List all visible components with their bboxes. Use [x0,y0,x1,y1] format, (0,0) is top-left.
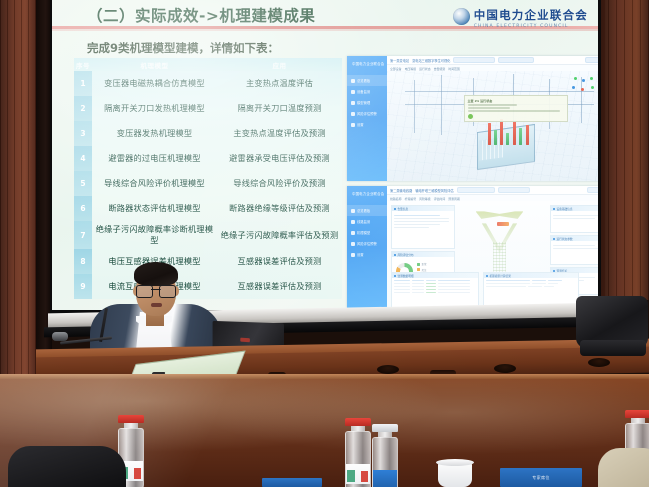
row-application: 互感器误差评估及预测 [217,253,342,270]
cable-grommet [377,365,399,374]
filter-status[interactable]: 运行状态 [419,67,431,71]
alert-icon [351,112,355,116]
water-bottle[interactable] [345,418,371,487]
dashboard-substation-digital-twin: 中国电力企业联合会 总览看板 设备监测 模型管理 [347,56,598,181]
filter-line-name[interactable]: 线路名称 [390,197,402,201]
tab-twin-view[interactable]: 变电站三维数字孪生可视化 [412,58,450,63]
eyeglasses-icon [136,285,176,296]
table-row: 6 断路器状态评估机理模型 断路器绝缘等级评估及预测 [74,196,342,221]
table-header-row: 序号 机理模型 应用 [74,58,342,71]
tooltip-title: 主变 #1 运行状态 [468,99,564,103]
sidebar-item-models[interactable]: 模型管理 [347,97,387,108]
dashboard-icon [351,209,355,213]
name-placard: 专家席位 [500,468,582,487]
bottle-label-mark [361,471,368,482]
bottle-label-mark [134,468,141,479]
row-application: 断路器绝缘等级评估及预测 [217,200,342,217]
filter-select[interactable] [498,187,530,194]
table-row [394,289,476,290]
dashboard-sidebar: 中国电力企业联合会 总览看板 线路监测 机理模型 [347,186,387,310]
hotspot-highlight [497,222,508,226]
lens-left [136,285,153,298]
monitor-icon [351,220,355,224]
name-placard-label: 专家席位 [532,475,550,481]
row-model: 导线综合风险评价机理模型 [92,175,217,192]
row-application: 主变热点温度评估及预测 [217,125,342,142]
row-model: 绝缘子污闪故障概率诊断机理模型 [92,221,217,249]
table-row [394,280,476,281]
bottle-body [345,431,371,487]
presenter-hair [134,262,178,286]
table-row: 7 绝缘子污闪故障概率诊断机理模型 绝缘子污闪故障概率评估及预测 [74,221,342,249]
sidebar-item-risk-alert[interactable]: 风险评估预警 [347,108,387,119]
panel-dot-icon [394,275,396,277]
dashboard-topbar: 第一类变电站 变电站三维数字孪生可视化 [387,56,598,65]
data-table [394,280,476,293]
row-number: 6 [74,196,92,221]
status-indicator-cluster [572,77,598,93]
panel-device-info: 设备基础信息 [550,205,598,233]
sidebar-item-line-monitoring[interactable]: 线路监测 [347,216,387,227]
bottle-label-mark [347,470,355,482]
dashboard-transmission-tower-risk: 中国电力企业联合会 总览看板 线路监测 机理模型 [347,186,598,310]
table-row: 5 导线综合风险评价机理模型 导线综合风险评价及预测 [74,171,342,196]
row-model: 变压器发热机理模型 [92,125,217,142]
dashboard-icon [351,79,355,83]
water-bottle[interactable] [372,424,398,487]
filter-predict-period[interactable]: 预测周期 [448,197,460,201]
panel-dot-icon [394,208,396,210]
chair-seat [580,340,646,356]
table-row [486,283,576,284]
lens-right [159,285,176,298]
presenter-mouth [151,303,162,307]
paper-cup[interactable] [438,462,472,487]
row-model: 隔离开关刀口发热机理模型 [92,100,217,117]
panel-body [484,278,578,291]
table-row [394,292,476,293]
sidebar-item-risk-alert[interactable]: 风险评估预警 [347,238,387,249]
user-avatar[interactable] [587,187,598,194]
sidebar-item-settings[interactable]: 设置 [347,249,387,260]
row-model: 断路器状态评估机理模型 [92,200,217,217]
dashboard-sidebar: 中国电力企业联合会 总览看板 设备监测 模型管理 [347,56,387,181]
bottle-cap [625,410,649,418]
row-model: 避雷器的过电压机理模型 [92,150,217,167]
wood-wall-left [0,0,36,420]
table-header-no: 序号 [74,60,92,70]
dashboard-main: 第一类变电站 变电站三维数字孪生可视化 全部设备 电压等级 运行状态 告警级别 … [387,56,598,181]
table-row [394,286,476,287]
filter-device[interactable]: 全部设备 [390,67,402,71]
wood-wall-right [600,0,649,300]
laptop-logo [240,338,250,343]
conference-room-photo: （二）实际成效->机理建模成果 中国电力企业联合会 CHINA ELECTRIC… [0,0,649,487]
panel-dot-icon [486,275,488,277]
alert-icon [351,242,355,246]
dashboard-logo: 中国电力企业联合会 [347,186,387,201]
data-table [486,280,576,287]
sidebar-item-monitoring[interactable]: 设备监测 [347,86,387,97]
dashboard-menu: 总览看板 设备监测 模型管理 风险评估预警 [347,75,387,130]
sidebar-item-overview[interactable]: 总览看板 [347,205,387,216]
panel-alarm-info: 告警信息 [391,205,455,249]
cable-grommet [494,364,516,373]
dashboard-menu: 总览看板 线路监测 机理模型 风险评估预警 [347,205,387,260]
row-application: 绝缘子污闪故障概率评估及预测 [217,227,342,244]
panel-body [392,278,478,297]
search-input[interactable] [453,57,495,64]
filter-assess-time[interactable]: 评估时间 [434,197,446,201]
row-model: 变压器电磁热耦合仿真模型 [92,75,217,92]
tower-3d-scene[interactable]: 告警信息 风险评估分布 [387,201,598,310]
slide-subtitle: 完成9类机理模型建模，详情如下表： [87,40,279,56]
status-badge [468,114,473,119]
dashboard-logo: 中国电力企业联合会 [347,56,387,71]
table-row [486,280,576,281]
panel-body [551,241,598,253]
status-bar-group [486,119,532,145]
logo-name-cn: 中国电力企业联合会 [474,8,588,22]
filter-alarm-level[interactable]: 告警级别 [434,67,446,71]
dashboard-main: 第二类输电线路 输电杆塔三维模型风险评估 线路名称 杆塔编号 风险等级 评估时间… [387,186,598,310]
table-header-model: 机理模型 [92,60,217,70]
search-input[interactable] [457,187,495,194]
globe-emblem-icon [453,8,470,25]
title-divider-secondary [52,29,598,31]
table-row: 3 变压器发热机理模型 主变热点温度评估及预测 [74,121,342,146]
panel-body [551,211,598,223]
office-chair [576,296,649,366]
device-tooltip: 主变 #1 运行状态 [464,95,568,122]
row-number: 5 [74,171,92,196]
gear-icon [351,123,355,127]
bottle-label [373,470,397,487]
logo-name-en: CHINA ELECTRICITY COUNCIL [474,24,588,29]
table-header-application: 应用 [217,60,342,70]
row-application: 主变热点温度评估 [217,75,342,92]
sidebar-item-overview[interactable]: 总览看板 [347,75,387,86]
filter-select[interactable] [498,57,534,64]
row-number: 1 [74,71,92,96]
filter-risk-level[interactable]: 风险等级 [419,197,431,201]
row-application: 导线综合风险评价及预测 [217,175,342,192]
table-row [486,286,576,287]
row-application: 避雷器承受电压评估及预测 [217,150,342,167]
bottle-cap [372,424,398,432]
table-row [394,283,476,284]
microphone [60,330,124,346]
user-avatar[interactable] [585,57,598,64]
organization-logo: 中国电力企业联合会 CHINA ELECTRICITY COUNCIL [453,4,588,29]
bottle-cap [345,418,371,426]
substation-3d-scene[interactable]: 主变 #1 运行状态 [387,71,598,181]
table-row: 1 变压器电磁热耦合仿真模型 主变热点温度评估 [74,71,342,96]
microphone-head [52,332,68,341]
dashboard-logo-label: 中国电力企业联合会 [352,61,384,66]
row-number: 3 [74,121,92,146]
sidebar-item-mechanism-model[interactable]: 机理模型 [347,227,387,238]
gear-icon [351,253,355,257]
office-chair [8,446,126,487]
attendee-shoulder [598,448,649,487]
cup-rim [436,459,474,466]
row-application: 互感器误差评估及预测 [217,278,342,295]
row-number: 7 [74,221,92,249]
page-title: （二）实际成效->机理建模成果 [87,4,315,26]
row-number: 2 [74,96,92,121]
name-placard [262,478,322,487]
panel-dot-icon [553,238,555,240]
bottle-cap [118,415,144,423]
tab-tower-view[interactable]: 输电杆塔三维模型风险评估 [415,188,453,193]
model-icon [351,231,355,235]
panel-dot-icon [394,254,396,256]
filter-tower-no[interactable]: 杆塔编号 [405,197,417,201]
panel-monitoring-detail: 监测数据明细 [391,272,479,308]
tab-line[interactable]: 第二类输电线路 [390,188,412,193]
dashboard-topbar: 第二类输电线路 输电杆塔三维模型风险评估 [387,186,598,195]
table-row: 2 隔离开关刀口发热机理模型 隔离开关刀口温度预测 [74,96,342,121]
panel-body [392,211,454,232]
model-icon [351,101,355,105]
tab-station[interactable]: 第一类变电站 [390,58,409,63]
row-number: 4 [74,146,92,171]
panel-runtime-params: 运行状态参数 [550,235,598,265]
panel-dot-icon [553,208,555,210]
dashboard-logo-label: 中国电力企业联合会 [352,191,384,196]
filter-time-range[interactable]: 时间范围 [448,67,460,71]
bottle-body [372,437,398,487]
filter-voltage[interactable]: 电压等级 [405,67,417,71]
monitor-icon [351,90,355,94]
table-row: 4 避雷器的过电压机理模型 避雷器承受电压评估及预测 [74,146,342,171]
sidebar-item-settings[interactable]: 设置 [347,119,387,130]
row-application: 隔离开关刀口温度预测 [217,100,342,117]
